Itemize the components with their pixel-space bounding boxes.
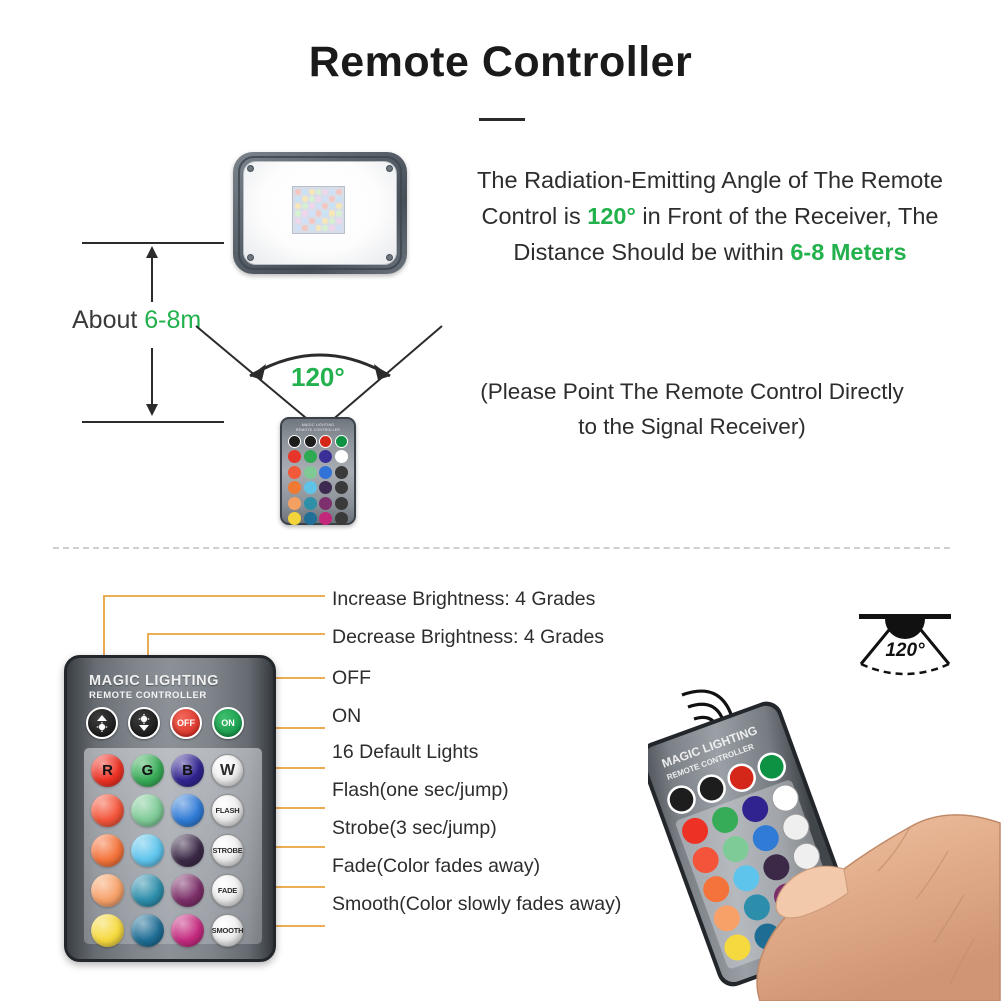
floodlight-led (295, 218, 301, 224)
mini-remote-button-r2c1[interactable] (304, 481, 317, 494)
remote-color-button-r4c1[interactable] (131, 914, 164, 947)
floodlight-led (322, 203, 328, 209)
ceiling-bar (859, 614, 951, 619)
callout-label-7: Fade(Color fades away) (332, 855, 540, 878)
floodlight-led (302, 203, 308, 209)
floodlight-led (329, 196, 335, 202)
para1-angle-highlight: 120° (587, 203, 636, 229)
floodlight-led-array (292, 186, 345, 234)
floodlight-led (322, 218, 328, 224)
floodlight-led (316, 225, 322, 231)
para1-distance-highlight: 6-8 Meters (790, 239, 906, 265)
mini-remote-top-button-2[interactable] (319, 435, 332, 448)
infographic-page: Remote Controller The Radiation-Emitting… (0, 0, 1001, 1001)
dimension-upper-shaft (151, 256, 153, 302)
mini-remote-button-r2c3[interactable] (335, 481, 348, 494)
floodlight-led (316, 189, 322, 195)
floodlight-led (302, 189, 308, 195)
floodlight-led (309, 218, 315, 224)
mini-remote-controller[interactable]: MAGIC LIGHTING REMOTE CONTROLLER (280, 417, 356, 525)
floodlight-led (336, 225, 342, 231)
callout-label-5: Flash(one sec/jump) (332, 779, 509, 802)
mini-remote-brand-line2: REMOTE CONTROLLER (287, 428, 349, 433)
floodlight-led (309, 196, 315, 202)
floodlight-led (322, 189, 328, 195)
callout-label-3: ON (332, 705, 361, 728)
mini-remote-button-grid[interactable] (287, 450, 349, 525)
callout-label-4: 16 Default Lights (332, 741, 478, 764)
title-divider (479, 118, 525, 121)
floodlight-led (295, 210, 301, 216)
hand-holding-remote-photo: MAGIC LIGHTING REMOTE CONTROLLER (648, 655, 1001, 1001)
remote-controller-diagram[interactable]: MAGIC LIGHTING REMOTE CONTROLLER OFFON R… (64, 655, 276, 962)
mini-remote-button-r1c1[interactable] (304, 466, 317, 479)
floodlight-led (302, 225, 308, 231)
mini-remote-button-r4c0[interactable] (288, 512, 301, 525)
callout-label-1: Decrease Brightness: 4 Grades (332, 626, 604, 649)
distance-label: About 6-8m (72, 306, 201, 335)
floodlight-led (336, 210, 342, 216)
remote-flash-button[interactable]: FLASH (211, 794, 244, 827)
mini-remote-button-r0c3[interactable] (335, 450, 348, 463)
remote-color-button-r2c2[interactable] (171, 834, 204, 867)
floodlight-led (302, 218, 308, 224)
mini-remote-button-r3c1[interactable] (304, 497, 317, 510)
floodlight-led (316, 218, 322, 224)
led-floodlight-image (233, 152, 407, 274)
on-button[interactable]: ON (212, 707, 244, 739)
floodlight-led (309, 203, 315, 209)
floodlight-led (295, 189, 301, 195)
floodlight-led (329, 225, 335, 231)
dimension-up-arrowhead (146, 246, 158, 258)
remote-smooth-button[interactable]: SMOOTH (211, 914, 244, 947)
mini-remote-button-r0c0[interactable] (288, 450, 301, 463)
mini-remote-button-r3c0[interactable] (288, 497, 301, 510)
page-title: Remote Controller (0, 38, 1001, 87)
mini-remote-button-r4c2[interactable] (319, 512, 332, 525)
remote-color-button-r3c1[interactable] (131, 874, 164, 907)
mini-remote-top-button-0[interactable] (288, 435, 301, 448)
remote-color-button-g[interactable]: G (131, 754, 164, 787)
remote-fade-button[interactable]: FADE (211, 874, 244, 907)
floodlight-screw (247, 254, 254, 261)
dimension-top-line (82, 242, 224, 244)
mini-remote-button-r2c0[interactable] (288, 481, 301, 494)
dimension-down-arrowhead (146, 404, 158, 416)
remote-color-button-r4c0[interactable] (91, 914, 124, 947)
floodlight-led (316, 210, 322, 216)
point-remote-note: (Please Point The Remote Control Directl… (476, 374, 908, 444)
off-button[interactable]: OFF (170, 707, 202, 739)
brightness-down-button[interactable] (128, 707, 160, 739)
remote-brand-line1: MAGIC LIGHTING (89, 673, 219, 689)
brightness-up-button[interactable] (86, 707, 118, 739)
mini-remote-top-row[interactable] (287, 435, 349, 448)
mini-remote-button-r3c3[interactable] (335, 497, 348, 510)
floodlight-led (329, 210, 335, 216)
floodlight-led (309, 210, 315, 216)
floodlight-led (336, 189, 342, 195)
mini-remote-button-r4c3[interactable] (335, 512, 348, 525)
floodlight-led (329, 218, 335, 224)
mini-remote-button-r2c2[interactable] (319, 481, 332, 494)
remote-color-button-r1c0[interactable] (91, 794, 124, 827)
floodlight-led (316, 203, 322, 209)
ceiling-lamp-dome (885, 619, 925, 639)
remote-top-button-row[interactable]: OFFON (86, 707, 244, 739)
floodlight-led (329, 203, 335, 209)
floodlight-led (316, 196, 322, 202)
section-divider (53, 547, 950, 549)
floodlight-led (322, 210, 328, 216)
mini-remote-button-r4c1[interactable] (304, 512, 317, 525)
remote-button-grid[interactable]: RGBWFLASHSTROBEFADESMOOTH (84, 748, 254, 956)
floodlight-led (302, 210, 308, 216)
hand-remote-illustration: MAGIC LIGHTING REMOTE CONTROLLER (648, 655, 1001, 1001)
mini-remote-top-button-1[interactable] (304, 435, 317, 448)
mini-remote-top-button-3[interactable] (335, 435, 348, 448)
floodlight-led (322, 196, 328, 202)
floodlight-screw (386, 254, 393, 261)
remote-w-button[interactable]: W (211, 754, 244, 787)
callout-label-2: OFF (332, 667, 371, 690)
remote-color-button-b[interactable]: B (171, 754, 204, 787)
remote-strobe-button[interactable]: STROBE (211, 834, 244, 867)
remote-color-button-r1c2[interactable] (171, 794, 204, 827)
floodlight-led (336, 203, 342, 209)
distance-label-prefix: About (72, 306, 144, 334)
floodlight-led (336, 218, 342, 224)
callout-label-8: Smooth(Color slowly fades away) (332, 893, 621, 916)
floodlight-led (309, 225, 315, 231)
floodlight-led (302, 196, 308, 202)
remote-color-button-r3c2[interactable] (171, 874, 204, 907)
floodlight-led (329, 189, 335, 195)
mini-remote-button-r1c3[interactable] (335, 466, 348, 479)
remote-keypad-panel: RGBWFLASHSTROBEFADESMOOTH (84, 748, 262, 944)
callout-label-6: Strobe(3 sec/jump) (332, 817, 497, 840)
remote-color-button-r4c2[interactable] (171, 914, 204, 947)
floodlight-led (322, 225, 328, 231)
mini-remote-button-r1c0[interactable] (288, 466, 301, 479)
dimension-lower-shaft (151, 348, 153, 404)
callout-label-0: Increase Brightness: 4 Grades (332, 588, 595, 611)
remote-color-button-r3c0[interactable] (91, 874, 124, 907)
floodlight-led (295, 196, 301, 202)
floodlight-led (295, 225, 301, 231)
remote-color-button-r2c0[interactable] (91, 834, 124, 867)
floodlight-led (309, 189, 315, 195)
mini-remote-button-r1c2[interactable] (319, 466, 332, 479)
mini-remote-button-r3c2[interactable] (319, 497, 332, 510)
remote-brand-line2: REMOTE CONTROLLER (89, 690, 207, 701)
remote-color-button-r1c1[interactable] (131, 794, 164, 827)
floodlight-screw (386, 165, 393, 172)
radiation-angle-description: The Radiation-Emitting Angle of The Remo… (436, 162, 984, 270)
mini-remote-button-r0c1[interactable] (304, 450, 317, 463)
remote-color-button-r2c1[interactable] (131, 834, 164, 867)
mini-remote-button-r0c2[interactable] (319, 450, 332, 463)
floodlight-screw (247, 165, 254, 172)
remote-color-button-r[interactable]: R (91, 754, 124, 787)
floodlight-led (295, 203, 301, 209)
floodlight-led (336, 196, 342, 202)
angle-value-label: 120° (291, 362, 345, 393)
